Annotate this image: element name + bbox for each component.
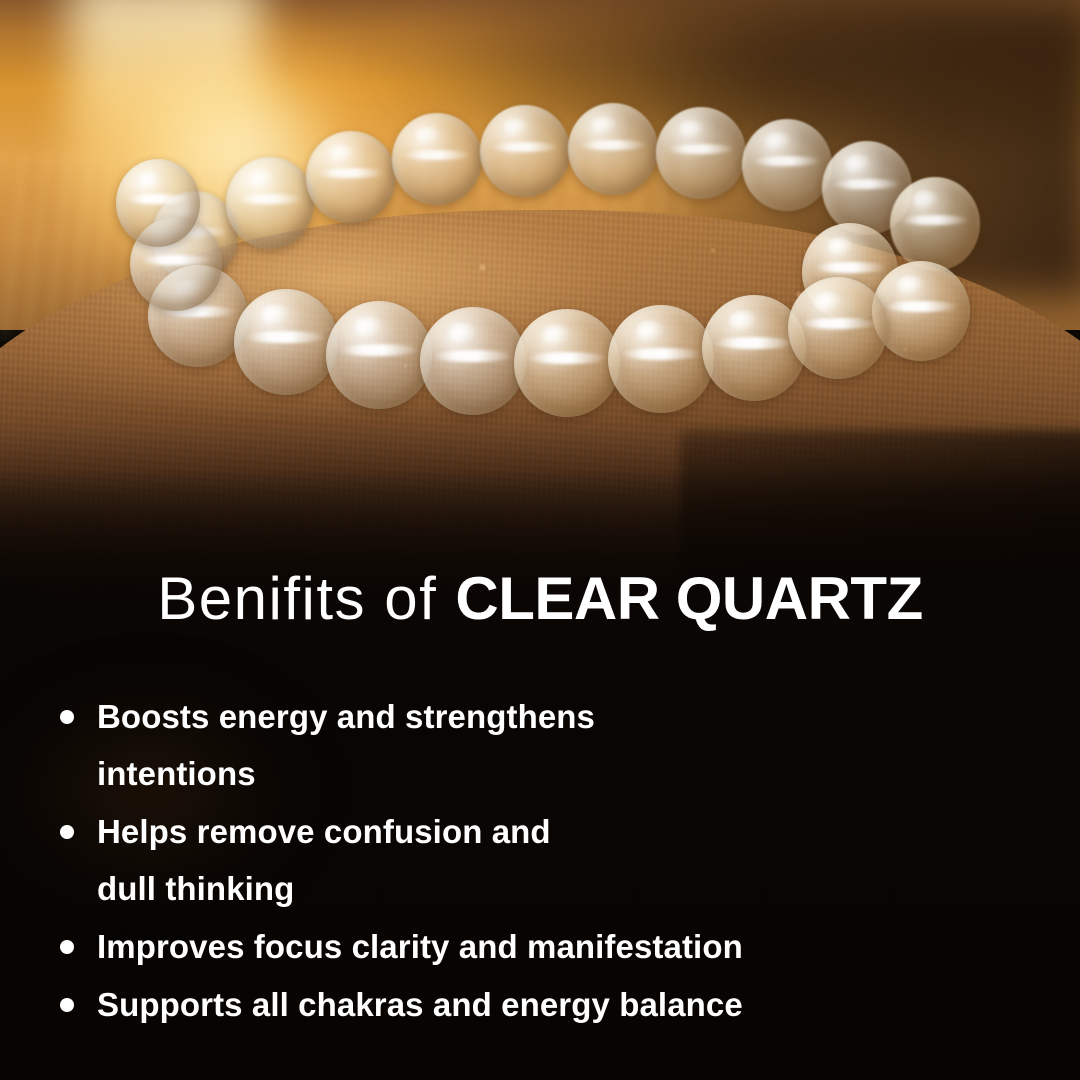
bracelet-bead bbox=[656, 107, 746, 199]
bracelet-bead bbox=[306, 131, 396, 223]
bracelet-bead bbox=[608, 305, 714, 413]
list-item: Boosts energy and strengthens intentions bbox=[52, 688, 1052, 802]
bracelet-bead bbox=[568, 103, 658, 195]
benefit-line: Boosts energy and strengthens bbox=[97, 688, 1052, 745]
bracelet-bead bbox=[420, 307, 526, 415]
product-benefits-graphic: Benifits of CLEAR QUARTZ Boosts energy a… bbox=[0, 0, 1080, 1080]
benefits-list: Boosts energy and strengthens intentions… bbox=[52, 688, 1052, 1034]
bracelet-bead bbox=[742, 119, 832, 211]
bullet-dot-icon bbox=[60, 998, 74, 1012]
bracelet-bead bbox=[890, 177, 980, 271]
bracelet-bead bbox=[116, 159, 200, 247]
list-item: Helps remove confusion and dull thinking bbox=[52, 803, 1052, 917]
bracelet-bead bbox=[226, 157, 314, 249]
benefit-line: Improves focus clarity and manifestation bbox=[97, 918, 1052, 975]
bracelet-bead bbox=[234, 289, 338, 395]
benefit-line: Helps remove confusion and bbox=[97, 803, 1052, 860]
bracelet-bead bbox=[392, 113, 482, 205]
bracelet-bead bbox=[788, 277, 888, 379]
benefit-line: Supports all chakras and energy balance bbox=[97, 976, 1052, 1033]
bullet-dot-icon bbox=[60, 940, 74, 954]
bullet-dot-icon bbox=[60, 825, 74, 839]
list-item: Supports all chakras and energy balance bbox=[52, 976, 1052, 1033]
bullet-dot-icon bbox=[60, 710, 74, 724]
bracelet-bead bbox=[326, 301, 432, 409]
heading-light-text: Benifits of bbox=[157, 565, 455, 632]
benefit-line: intentions bbox=[97, 745, 1052, 802]
bracelet-bead bbox=[872, 261, 970, 361]
page-title: Benifits of CLEAR QUARTZ bbox=[0, 567, 1080, 631]
benefit-line: dull thinking bbox=[97, 860, 1052, 917]
bracelet-bead bbox=[480, 105, 570, 197]
list-item: Improves focus clarity and manifestation bbox=[52, 918, 1052, 975]
quartz-bracelet bbox=[130, 95, 920, 405]
heading-bold-text: CLEAR QUARTZ bbox=[455, 565, 922, 632]
bracelet-bead bbox=[514, 309, 620, 417]
